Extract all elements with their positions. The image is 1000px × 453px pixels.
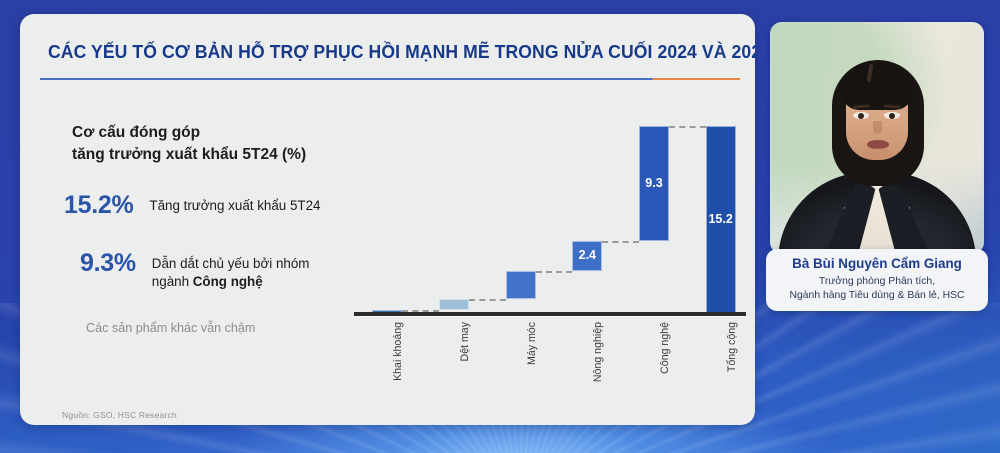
chart-bar	[439, 299, 469, 310]
chart-plot-area: 2.49.315.2	[350, 110, 750, 314]
chart-connector	[469, 299, 506, 301]
stat-value: 9.3%	[80, 250, 136, 276]
chart-category-label: Dệt may	[459, 322, 471, 361]
stat-description: Dẫn dắt chủ yếu bởi nhóm ngành Công nghệ	[152, 250, 310, 291]
speaker-chin	[862, 148, 894, 160]
page-title: CÁC YẾU TỐ CƠ BẢN HỖ TRỢ PHỤC HỒI MẠNH M…	[48, 41, 755, 63]
chart-bar	[506, 271, 536, 299]
speaker-hair-front	[841, 62, 913, 110]
stat-value: 15.2%	[64, 192, 133, 218]
chart-category-label: Công nghệ	[659, 322, 671, 374]
chart-caption: Cơ cấu đóng góp tăng trưởng xuất khẩu 5T…	[72, 122, 306, 166]
speaker-eye-left	[853, 112, 869, 119]
waterfall-chart: 2.49.315.2 Khai khoángDệt mayMáy mócNông…	[350, 110, 750, 400]
chart-connector	[536, 271, 573, 273]
chart-footnote: Các sản phẩm khác vẫn chậm	[86, 321, 255, 335]
slide-stage: CÁC YẾU TỐ CƠ BẢN HỖ TRỢ PHỤC HỒI MẠNH M…	[0, 0, 1000, 453]
chart-bar-value: 15.2	[706, 212, 736, 226]
chart-bar-value: 9.3	[639, 176, 669, 190]
stat-item-technology: 9.3% Dẫn dắt chủ yếu bởi nhóm ngành Công…	[80, 250, 309, 291]
speaker-eye-right	[884, 112, 900, 119]
speaker-role: Trưởng phòng Phân tích, Ngành hàng Tiêu …	[766, 275, 988, 302]
speaker-name: Bà Bùi Nguyên Cẩm Giang	[766, 256, 988, 272]
chart-category-label: Tổng cộng	[726, 322, 738, 372]
chart-baseline-axis	[354, 312, 746, 316]
chart-connector	[669, 126, 706, 128]
stat-description-emphasis: Công nghệ	[193, 274, 263, 289]
chart-connector	[602, 241, 639, 243]
speaker-name-card: Bà Bùi Nguyên Cẩm Giang Trưởng phòng Phâ…	[766, 249, 988, 311]
chart-category-label: Máy móc	[526, 322, 538, 365]
chart-category-label: Khai khoáng	[392, 322, 404, 381]
source-note: Nguồn: GSO, HSC Research	[62, 410, 177, 420]
speaker-nose	[873, 121, 882, 134]
iris-left	[858, 113, 864, 119]
chart-category-label: Nông nghiệp	[592, 322, 604, 382]
stat-item-export-growth: 15.2% Tăng trưởng xuất khẩu 5T24	[64, 192, 320, 218]
iris-right	[889, 113, 895, 119]
chart-bar-value: 2.4	[572, 248, 602, 262]
title-divider	[40, 78, 740, 80]
stat-description: Tăng trưởng xuất khẩu 5T24	[149, 192, 320, 215]
presentation-slide: CÁC YẾU TỐ CƠ BẢN HỖ TRỢ PHỤC HỒI MẠNH M…	[20, 14, 755, 425]
speaker-video[interactable]	[770, 22, 984, 254]
